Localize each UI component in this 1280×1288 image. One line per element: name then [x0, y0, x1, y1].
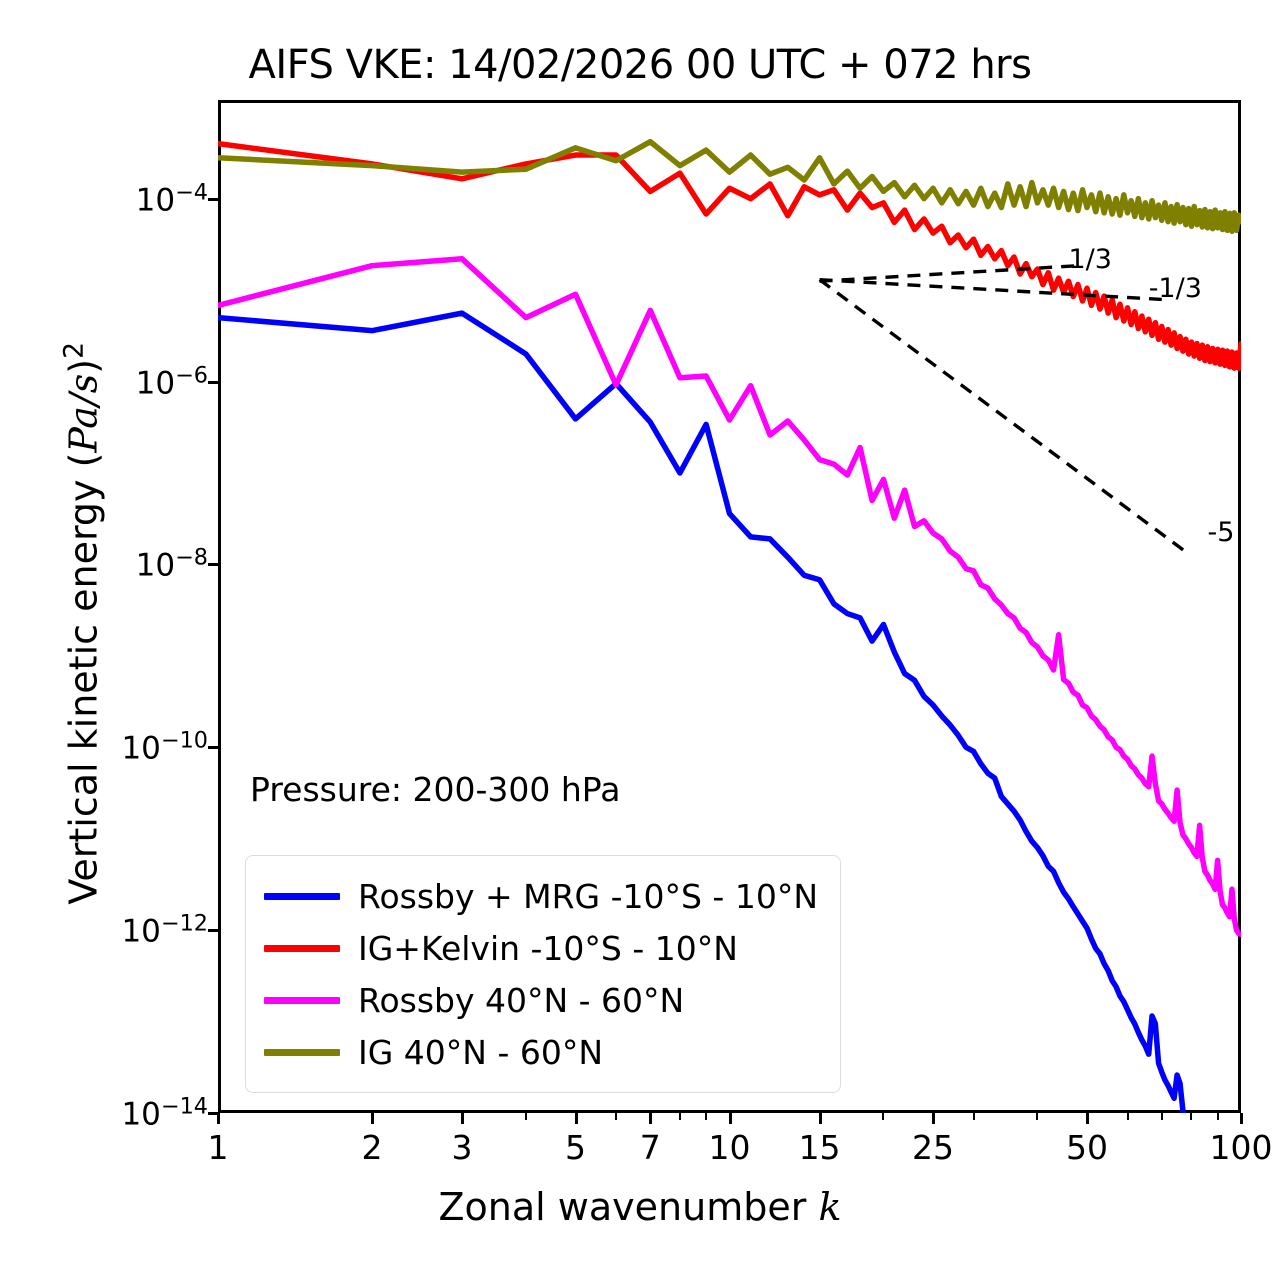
x-tick-label-3: 3 [452, 1128, 473, 1167]
x-minor-tick-10 [1217, 1113, 1219, 1120]
legend-item-0[interactable]: Rossby + MRG -10°S - 10°N [264, 870, 818, 922]
x-minor-tick-9 [1190, 1113, 1192, 1120]
y-tick-1 [208, 381, 218, 384]
y-tick-label-0: 10−4 [136, 179, 208, 218]
y-tick-label-1: 10−6 [136, 362, 208, 401]
chart-page: AIFS VKE: 14/02/2026 00 UTC + 072 hrs 10… [0, 0, 1280, 1288]
legend: Rossby + MRG -10°S - 10°NIG+Kelvin -10°S… [245, 855, 841, 1093]
x-tick-label-2: 2 [361, 1128, 382, 1167]
x-minor-tick-6 [1036, 1113, 1038, 1120]
y-axis-label-suffix: ) [61, 359, 105, 374]
x-tick-3 [575, 1113, 578, 1124]
y-tick-2 [208, 563, 218, 566]
y-axis-label-prefix: Vertical kinetic energy ( [61, 453, 105, 905]
x-axis-label-symbol: k [818, 1185, 841, 1229]
x-tick-label-1: 1 [208, 1128, 229, 1167]
x-tick-label-10: 10 [709, 1128, 751, 1167]
legend-label-1: IG+Kelvin -10°S - 10°N [358, 929, 738, 968]
series-line-2 [218, 259, 1241, 935]
slope-label--5: -5 [1207, 517, 1234, 548]
legend-swatch-3 [264, 1049, 340, 1056]
x-axis-label-text: Zonal wavenumber [439, 1185, 807, 1229]
legend-label-3: IG 40°N - 60°N [358, 1033, 603, 1072]
x-tick-2 [461, 1113, 464, 1124]
x-tick-6 [819, 1113, 822, 1124]
y-tick-4 [208, 929, 218, 932]
x-minor-tick-5 [973, 1113, 975, 1120]
legend-item-1[interactable]: IG+Kelvin -10°S - 10°N [264, 922, 818, 974]
legend-item-3[interactable]: IG 40°N - 60°N [264, 1026, 818, 1078]
x-tick-8 [1086, 1113, 1089, 1124]
x-axis-label: Zonal wavenumber k [0, 1185, 1280, 1229]
x-tick-label-7: 7 [640, 1128, 661, 1167]
x-minor-tick-0 [525, 1113, 527, 1120]
slope-label--1-3: -1/3 [1149, 273, 1202, 304]
y-axis-label-units: Pa/s [61, 374, 105, 453]
y-tick-label-2: 10−8 [136, 545, 208, 584]
y-axis-label: Vertical kinetic energy (Pa/s)2 [59, 123, 106, 1123]
legend-swatch-1 [264, 945, 340, 952]
x-minor-tick-7 [1127, 1113, 1129, 1120]
x-tick-label-15: 15 [799, 1128, 841, 1167]
reference-line-1 [820, 280, 1162, 300]
x-tick-5 [729, 1113, 732, 1124]
y-axis-label-exponent: 2 [59, 342, 90, 359]
y-tick-0 [208, 198, 218, 201]
legend-label-0: Rossby + MRG -10°S - 10°N [358, 877, 818, 916]
x-tick-0 [217, 1113, 220, 1124]
x-minor-tick-4 [882, 1113, 884, 1120]
x-minor-tick-1 [615, 1113, 617, 1120]
x-tick-label-50: 50 [1066, 1128, 1108, 1167]
legend-label-2: Rossby 40°N - 60°N [358, 981, 684, 1020]
x-tick-1 [371, 1113, 374, 1124]
x-minor-tick-2 [679, 1113, 681, 1120]
x-minor-tick-3 [705, 1113, 707, 1120]
x-tick-4 [649, 1113, 652, 1124]
legend-swatch-0 [264, 893, 340, 900]
y-tick-label-5: 10−14 [121, 1093, 208, 1132]
x-tick-label-100: 100 [1210, 1128, 1273, 1167]
legend-item-2[interactable]: Rossby 40°N - 60°N [264, 974, 818, 1026]
x-tick-label-5: 5 [565, 1128, 586, 1167]
slope-label-1-3: 1/3 [1069, 244, 1112, 275]
x-tick-label-25: 25 [912, 1128, 954, 1167]
legend-swatch-2 [264, 997, 340, 1004]
x-tick-7 [932, 1113, 935, 1124]
y-tick-label-3: 10−10 [121, 728, 208, 767]
x-tick-9 [1240, 1113, 1243, 1124]
y-tick-3 [208, 746, 218, 749]
pressure-annotation: Pressure: 200-300 hPa [250, 770, 620, 809]
y-tick-label-4: 10−12 [121, 910, 208, 949]
x-minor-tick-8 [1161, 1113, 1163, 1120]
